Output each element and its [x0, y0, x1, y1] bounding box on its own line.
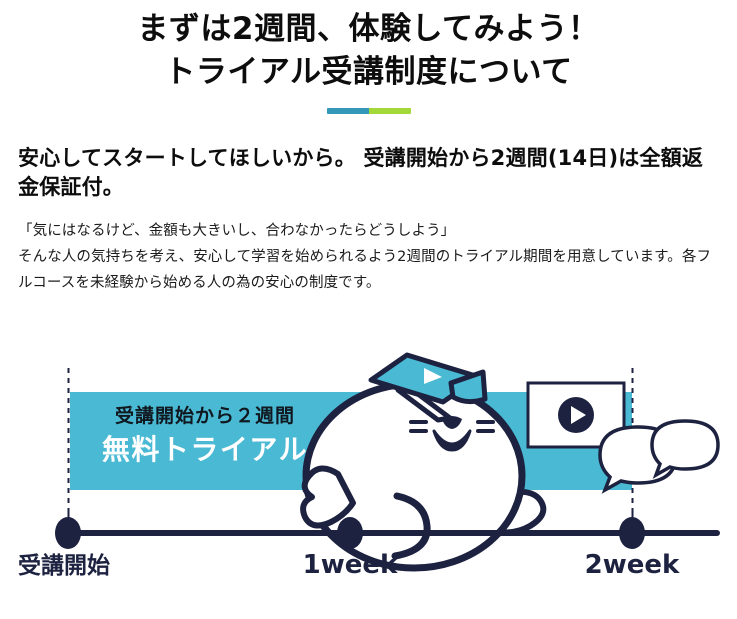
banner-caption-small: 受講開始から２週間: [115, 404, 295, 427]
banner-caption-large: 無料トライアル: [102, 433, 308, 466]
heading-divider: [327, 108, 411, 114]
heading-line-2: トライアル受講制度について: [0, 51, 737, 94]
timeline-dot-start: [55, 517, 81, 549]
divider-segment-right: [369, 108, 411, 114]
trial-timeline-figure: 受講開始から２週間 無料トライアル: [0, 330, 737, 619]
timeline-dot-1week: [337, 517, 363, 549]
timeline-label-2week: 2week: [585, 550, 680, 580]
body-copy-line-2: そんな人の気持ちを考え、安心して学習を始められるよう2週間のトライアル期間を用意…: [18, 245, 719, 297]
heading-line-1: まずは2週間、体験してみよう！: [0, 8, 737, 51]
body-copy: 「気にはなるけど、金額も大きいし、合わなかったらどうしよう」 そんな人の気持ちを…: [18, 219, 719, 296]
timeline-dot-2week: [619, 517, 645, 549]
lead-paragraph: 安心してスタートしてほしいから。 受講開始から2週間(14日)は全額返金保証付。: [18, 144, 719, 204]
body-copy-line-1: 「気にはなるけど、金額も大きいし、合わなかったらどうしよう」: [18, 219, 719, 245]
timeline-label-1week: 1week: [303, 550, 398, 580]
page-heading: まずは2週間、体験してみよう！ トライアル受講制度について: [0, 0, 737, 114]
divider-segment-left: [327, 108, 369, 114]
speech-bubble-icon: [600, 421, 718, 490]
timeline-label-start: 受講開始: [18, 552, 110, 579]
